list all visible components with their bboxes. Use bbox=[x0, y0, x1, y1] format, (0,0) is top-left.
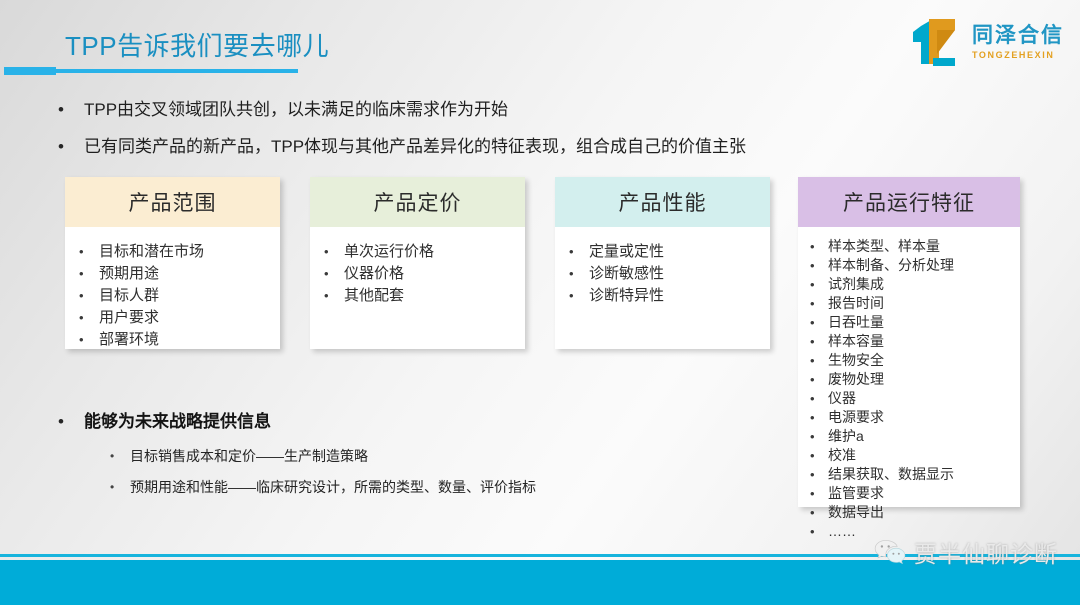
brand-logo: 同泽合信 TONGZEHEXIN bbox=[907, 14, 1064, 70]
card-header: 产品性能 bbox=[555, 177, 770, 227]
bullet-marker: • bbox=[58, 410, 84, 434]
list-item-label: 目标和潜在市场 bbox=[99, 241, 204, 263]
list-item-label: 仪器 bbox=[828, 389, 856, 408]
wechat-icon bbox=[874, 539, 906, 566]
strategy-subbullet-item: • 预期用途和性能——临床研究设计，所需的类型、数量、评价指标 bbox=[110, 477, 758, 498]
list-item-label: 其他配套 bbox=[344, 285, 404, 307]
list-item: • 定量或定性 bbox=[569, 241, 764, 263]
list-item-label: 电源要求 bbox=[828, 408, 884, 427]
bullet-marker: • bbox=[569, 263, 589, 285]
list-item: • 用户要求 bbox=[79, 307, 274, 329]
list-item: • 其他配套 bbox=[324, 285, 519, 307]
card-product-performance: 产品性能 • 定量或定性 • 诊断敏感性 • 诊断特异性 bbox=[555, 177, 770, 349]
card-product-scope: 产品范围 • 目标和潜在市场 • 预期用途 • 目标人群 • 用户要求 bbox=[65, 177, 280, 349]
bullet-marker: • bbox=[58, 98, 84, 122]
list-item: • 数据导出 bbox=[810, 503, 1014, 522]
list-item-label: 校准 bbox=[828, 446, 856, 465]
list-item-label: 样本制备、分析处理 bbox=[828, 256, 954, 275]
card-title: 产品运行特征 bbox=[843, 187, 975, 217]
bullet-marker: • bbox=[324, 263, 344, 285]
card-body: • 单次运行价格 • 仪器价格 • 其他配套 bbox=[310, 227, 525, 317]
bullet-marker: • bbox=[79, 285, 99, 307]
strategy-bullet-text: 能够为未来战略提供信息 bbox=[84, 410, 271, 434]
intro-bullet-text: 已有同类产品的新产品，TPP体现与其他产品差异化的特征表现，组合成自己的价值主张 bbox=[84, 135, 746, 159]
list-item: • 日吞吐量 bbox=[810, 313, 1014, 332]
bullet-marker: • bbox=[810, 522, 828, 541]
card-product-pricing: 产品定价 • 单次运行价格 • 仪器价格 • 其他配套 bbox=[310, 177, 525, 349]
list-item-label: 用户要求 bbox=[99, 307, 159, 329]
list-item: • 试剂集成 bbox=[810, 275, 1014, 294]
intro-bullet-list: • TPP由交叉领域团队共创，以未满足的临床需求作为开始 • 已有同类产品的新产… bbox=[58, 98, 1018, 172]
tz-monogram-logo-icon bbox=[907, 14, 963, 70]
list-item: • 报告时间 bbox=[810, 294, 1014, 313]
list-item-label: 报告时间 bbox=[828, 294, 884, 313]
strategy-subbullet-text: 目标销售成本和定价——生产制造策略 bbox=[130, 446, 368, 467]
bullet-marker: • bbox=[810, 446, 828, 465]
bullet-marker: • bbox=[569, 241, 589, 263]
card-header: 产品范围 bbox=[65, 177, 280, 227]
strategy-subbullet-text: 预期用途和性能——临床研究设计，所需的类型、数量、评价指标 bbox=[130, 477, 536, 498]
list-item: • 维护a bbox=[810, 427, 1014, 446]
bullet-marker: • bbox=[810, 313, 828, 332]
bullet-marker: • bbox=[79, 329, 99, 351]
bullet-marker: • bbox=[810, 427, 828, 446]
list-item-label: 数据导出 bbox=[828, 503, 884, 522]
strategy-subbullet-item: • 目标销售成本和定价——生产制造策略 bbox=[110, 446, 758, 467]
bullet-marker: • bbox=[324, 285, 344, 307]
bullet-marker: • bbox=[810, 237, 828, 256]
card-title: 产品范围 bbox=[129, 187, 217, 217]
list-item: • 样本类型、样本量 bbox=[810, 237, 1014, 256]
list-item: • 单次运行价格 bbox=[324, 241, 519, 263]
list-item: • 仪器价格 bbox=[324, 263, 519, 285]
bullet-marker: • bbox=[79, 241, 99, 263]
list-item-label: 定量或定性 bbox=[589, 241, 664, 263]
list-item: • 结果获取、数据显示 bbox=[810, 465, 1014, 484]
list-item: • 电源要求 bbox=[810, 408, 1014, 427]
list-item: • 预期用途 bbox=[79, 263, 274, 285]
watermark-text: 贾半仙聊诊断 bbox=[914, 535, 1058, 569]
list-item: • 部署环境 bbox=[79, 329, 274, 351]
logo-wordmark: 同泽合信 TONGZEHEXIN bbox=[972, 25, 1064, 60]
bullet-marker: • bbox=[810, 389, 828, 408]
slide-canvas: TPP告诉我们要去哪儿 同泽合信 TONGZEHEXIN • TPP由交叉领域团… bbox=[0, 0, 1080, 605]
list-item-label: 诊断敏感性 bbox=[589, 263, 664, 285]
list-item: • 诊断敏感性 bbox=[569, 263, 764, 285]
bullet-marker: • bbox=[810, 275, 828, 294]
watermark: 贾半仙聊诊断 bbox=[874, 535, 1058, 569]
bullet-marker: • bbox=[79, 307, 99, 329]
bullet-marker: • bbox=[810, 484, 828, 503]
list-item: • 诊断特异性 bbox=[569, 285, 764, 307]
card-body: • 样本类型、样本量 • 样本制备、分析处理 • 试剂集成 • 报告时间 • bbox=[798, 227, 1020, 549]
card-header: 产品运行特征 bbox=[798, 177, 1020, 227]
card-product-operating-characteristics: 产品运行特征 • 样本类型、样本量 • 样本制备、分析处理 • 试剂集成 • 报… bbox=[798, 177, 1020, 507]
list-item-label: 监管要求 bbox=[828, 484, 884, 503]
list-item-label: 废物处理 bbox=[828, 370, 884, 389]
card-title: 产品性能 bbox=[619, 187, 707, 217]
bullet-marker: • bbox=[79, 263, 99, 285]
list-item-label: 日吞吐量 bbox=[828, 313, 884, 332]
list-item-label: 维护a bbox=[828, 427, 864, 446]
list-item: • 样本容量 bbox=[810, 332, 1014, 351]
bullet-marker: • bbox=[810, 370, 828, 389]
list-item: • 生物安全 bbox=[810, 351, 1014, 370]
list-item-label: 结果获取、数据显示 bbox=[828, 465, 954, 484]
strategy-bullet-item: • 能够为未来战略提供信息 bbox=[58, 410, 758, 434]
bullet-marker: • bbox=[110, 477, 130, 498]
list-item: • 仪器 bbox=[810, 389, 1014, 408]
list-item: • 校准 bbox=[810, 446, 1014, 465]
bullet-marker: • bbox=[810, 351, 828, 370]
card-body: • 定量或定性 • 诊断敏感性 • 诊断特异性 bbox=[555, 227, 770, 317]
bullet-marker: • bbox=[810, 465, 828, 484]
bullet-marker: • bbox=[58, 135, 84, 159]
list-item-label: 部署环境 bbox=[99, 329, 159, 351]
bullet-marker: • bbox=[569, 285, 589, 307]
list-item: • 目标人群 bbox=[79, 285, 274, 307]
strategy-bullet-list: • 能够为未来战略提供信息 • 目标销售成本和定价——生产制造策略 • 预期用途… bbox=[58, 410, 758, 508]
bullet-marker: • bbox=[810, 332, 828, 351]
list-item-label: 样本类型、样本量 bbox=[828, 237, 940, 256]
intro-bullet-item: • TPP由交叉领域团队共创，以未满足的临床需求作为开始 bbox=[58, 98, 1018, 122]
list-item-label: 生物安全 bbox=[828, 351, 884, 370]
list-item: • 样本制备、分析处理 bbox=[810, 256, 1014, 275]
page-title: TPP告诉我们要去哪儿 bbox=[65, 26, 329, 63]
list-item: • 目标和潜在市场 bbox=[79, 241, 274, 263]
bullet-marker: • bbox=[810, 294, 828, 313]
list-item: • 废物处理 bbox=[810, 370, 1014, 389]
bullet-marker: • bbox=[810, 256, 828, 275]
card-header: 产品定价 bbox=[310, 177, 525, 227]
intro-bullet-text: TPP由交叉领域团队共创，以未满足的临床需求作为开始 bbox=[84, 98, 508, 122]
list-item-label: 目标人群 bbox=[99, 285, 159, 307]
bullet-marker: • bbox=[110, 446, 130, 467]
list-item: • 监管要求 bbox=[810, 484, 1014, 503]
list-item-label: 试剂集成 bbox=[828, 275, 884, 294]
list-item-label: 预期用途 bbox=[99, 263, 159, 285]
list-item-label: 单次运行价格 bbox=[344, 241, 434, 263]
title-rule-line bbox=[56, 69, 298, 73]
list-item-label: 诊断特异性 bbox=[589, 285, 664, 307]
list-item-label: 仪器价格 bbox=[344, 263, 404, 285]
logo-name-en: TONGZEHEXIN bbox=[972, 51, 1064, 60]
list-item-label: 样本容量 bbox=[828, 332, 884, 351]
card-body: • 目标和潜在市场 • 预期用途 • 目标人群 • 用户要求 • 部署环境 bbox=[65, 227, 280, 361]
logo-name-cn: 同泽合信 bbox=[972, 25, 1064, 46]
card-title: 产品定价 bbox=[374, 187, 462, 217]
bullet-marker: • bbox=[810, 408, 828, 427]
bullet-marker: • bbox=[810, 503, 828, 522]
title-rule-accent bbox=[4, 67, 56, 75]
list-item-label: …… bbox=[828, 522, 856, 541]
bullet-marker: • bbox=[324, 241, 344, 263]
intro-bullet-item: • 已有同类产品的新产品，TPP体现与其他产品差异化的特征表现，组合成自己的价值… bbox=[58, 135, 1018, 159]
